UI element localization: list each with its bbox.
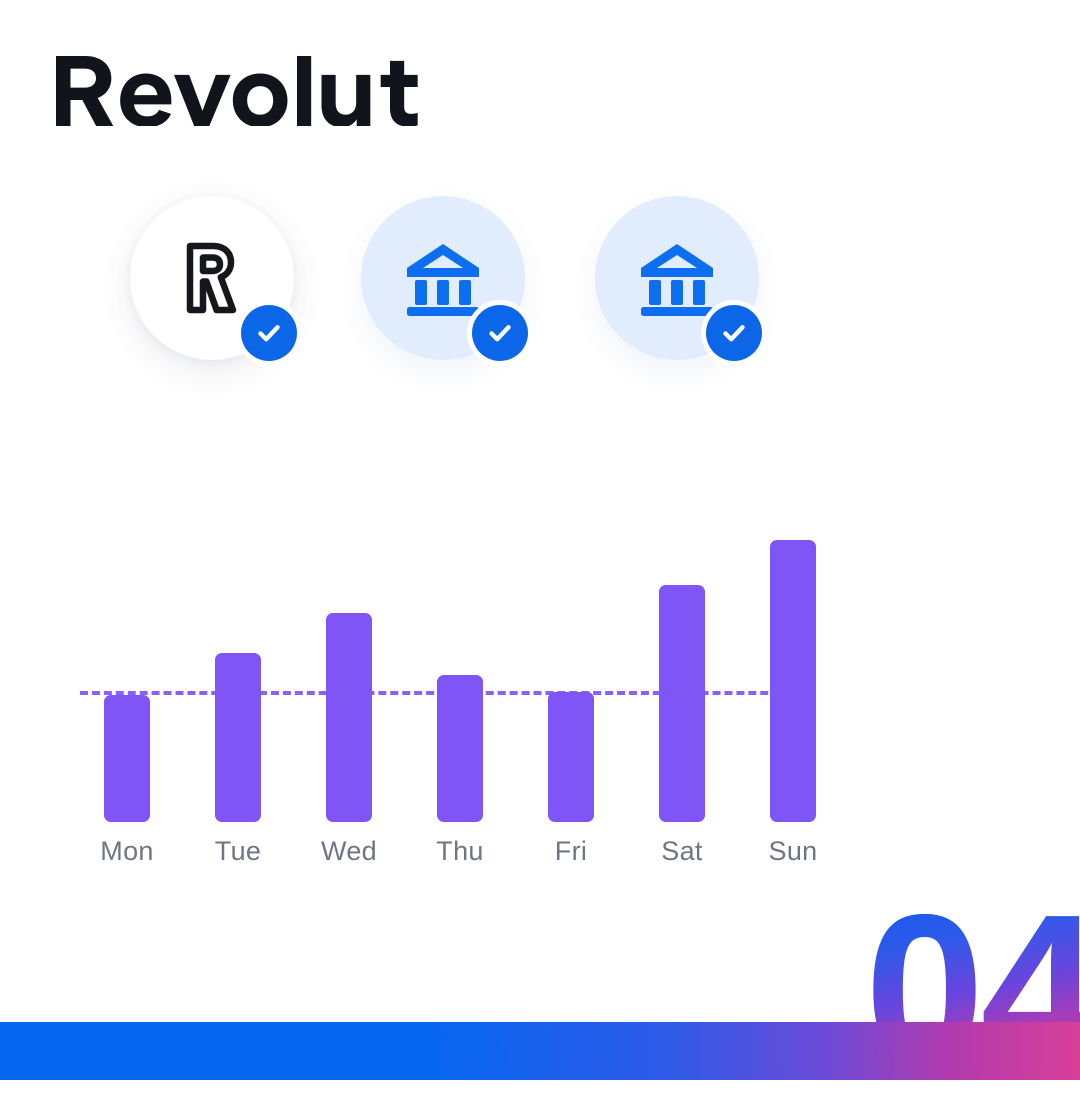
chart-bars [80,540,840,822]
chart-x-label: Tue [197,836,279,867]
chart-bar [548,692,594,822]
chart-x-axis-labels: MonTueWedThuFriSatSun [80,836,840,867]
verified-badge [236,300,302,366]
account-badge-revolut[interactable] [130,196,294,360]
chart-x-label: Mon [86,836,168,867]
chart-x-label: Sun [752,836,834,867]
weekly-spending-chart: MonTueWedThuFriSatSun [0,540,1080,890]
revolut-r-logo-icon [170,236,254,320]
chart-bar [659,585,705,822]
account-badge-bank-1[interactable] [361,196,525,360]
chart-x-label: Sat [641,836,723,867]
chart-bar [104,695,150,822]
chart-bar [770,540,816,822]
verified-badge [701,300,767,366]
check-icon [254,318,284,348]
footer-gradient-band [0,1022,1080,1080]
verified-badge [467,300,533,366]
check-icon [719,318,749,348]
revolut-wordmark-icon [56,56,469,126]
chart-bar [215,653,261,822]
chart-plot-area [80,540,840,822]
chart-x-label: Thu [419,836,501,867]
check-icon [485,318,515,348]
bank-icon [401,236,485,320]
chart-bar [437,675,483,822]
average-line [80,691,816,695]
chart-x-label: Wed [308,836,390,867]
brand-logo [56,56,476,126]
chart-x-label: Fri [530,836,612,867]
linked-accounts-row [0,196,1080,396]
chart-bar [326,613,372,822]
bank-icon [635,236,719,320]
account-badge-bank-2[interactable] [595,196,759,360]
